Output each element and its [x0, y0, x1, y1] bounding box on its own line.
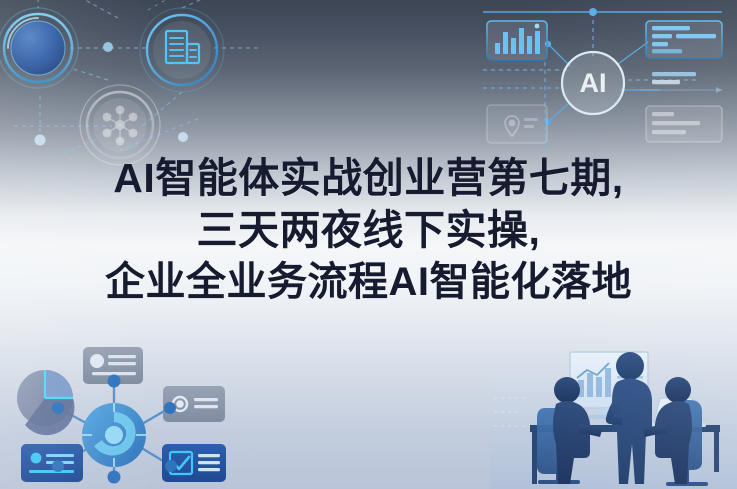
title-line-1: AI智能体实战创业营第七期,	[0, 152, 737, 204]
title-line-2: 三天两夜线下实操,	[0, 204, 737, 256]
title-line-3: 企业全业务流程AI智能化落地	[0, 256, 737, 308]
poster-canvas: AI	[0, 0, 737, 489]
poster-title: AI智能体实战创业营第七期, 三天两夜线下实操, 企业全业务流程AI智能化落地	[0, 152, 737, 308]
